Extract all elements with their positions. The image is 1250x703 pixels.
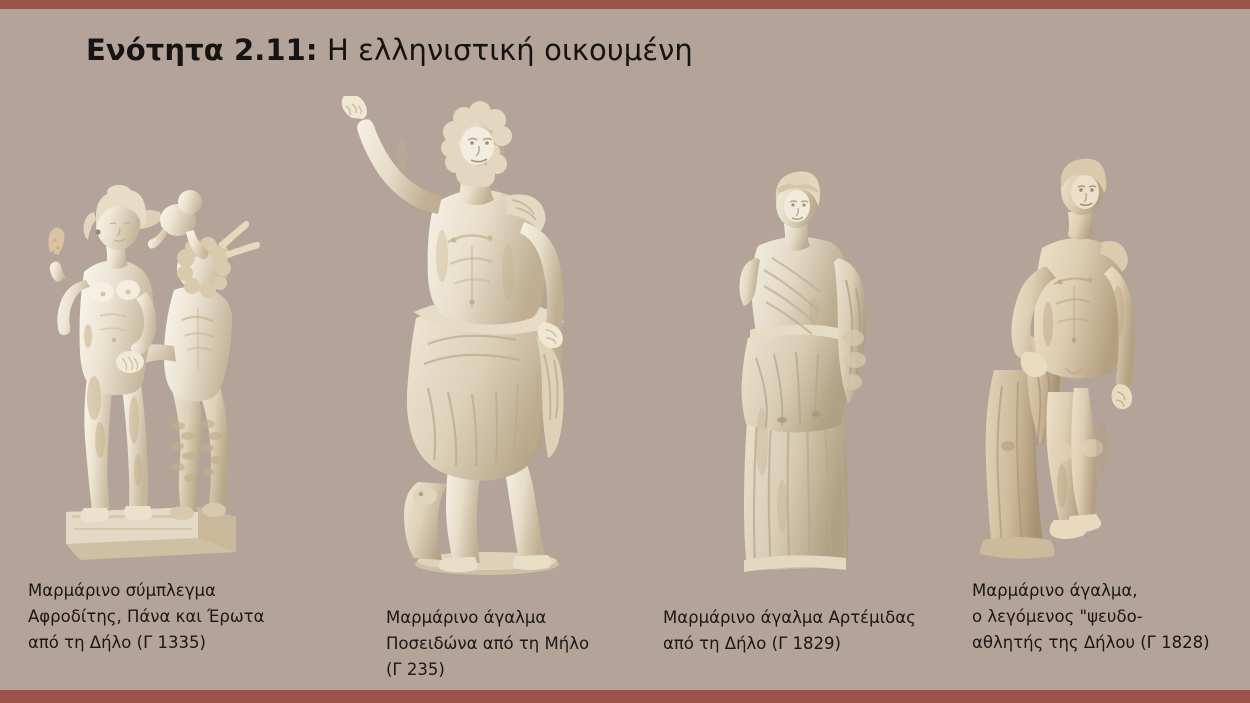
statue-poseidon-melos [292, 96, 602, 576]
slide-title: Ενότητα 2.11: Η ελληνιστική οικουμένη [86, 33, 693, 67]
slide: Ενότητα 2.11: Η ελληνιστική οικουμένη [0, 0, 1250, 703]
caption-poseidon-melos: Μαρμάρινο άγαλμα Ποσειδώνα από τη Μήλο (… [386, 605, 646, 683]
caption-pseudo-athlete-delos: Μαρμάρινο άγαλμα, ο λεγόμενος "ψευδο- αθ… [972, 578, 1250, 656]
dolphin-support [404, 482, 448, 560]
slide-title-bold: Ενότητα 2.11: [86, 33, 318, 67]
slide-title-regular: Η ελληνιστική οικουμένη [318, 33, 693, 67]
raised-arm [342, 96, 442, 214]
figure-aphrodite [48, 185, 156, 522]
statue-artemis-delos [712, 162, 890, 580]
top-accent-bar [0, 0, 1250, 9]
caption-aphrodite-pan-eros: Μαρμάρινο σύμπλεγμα Αφροδίτης, Πάνα και … [28, 578, 328, 656]
statue-aphrodite-pan-eros [22, 140, 284, 570]
caption-artemis-delos: Μαρμάρινο άγαλμα Αρτέμιδας από τη Δήλο (… [663, 605, 953, 657]
bottom-accent-bar [0, 690, 1250, 703]
statue-pseudo-athlete-delos [962, 156, 1162, 576]
